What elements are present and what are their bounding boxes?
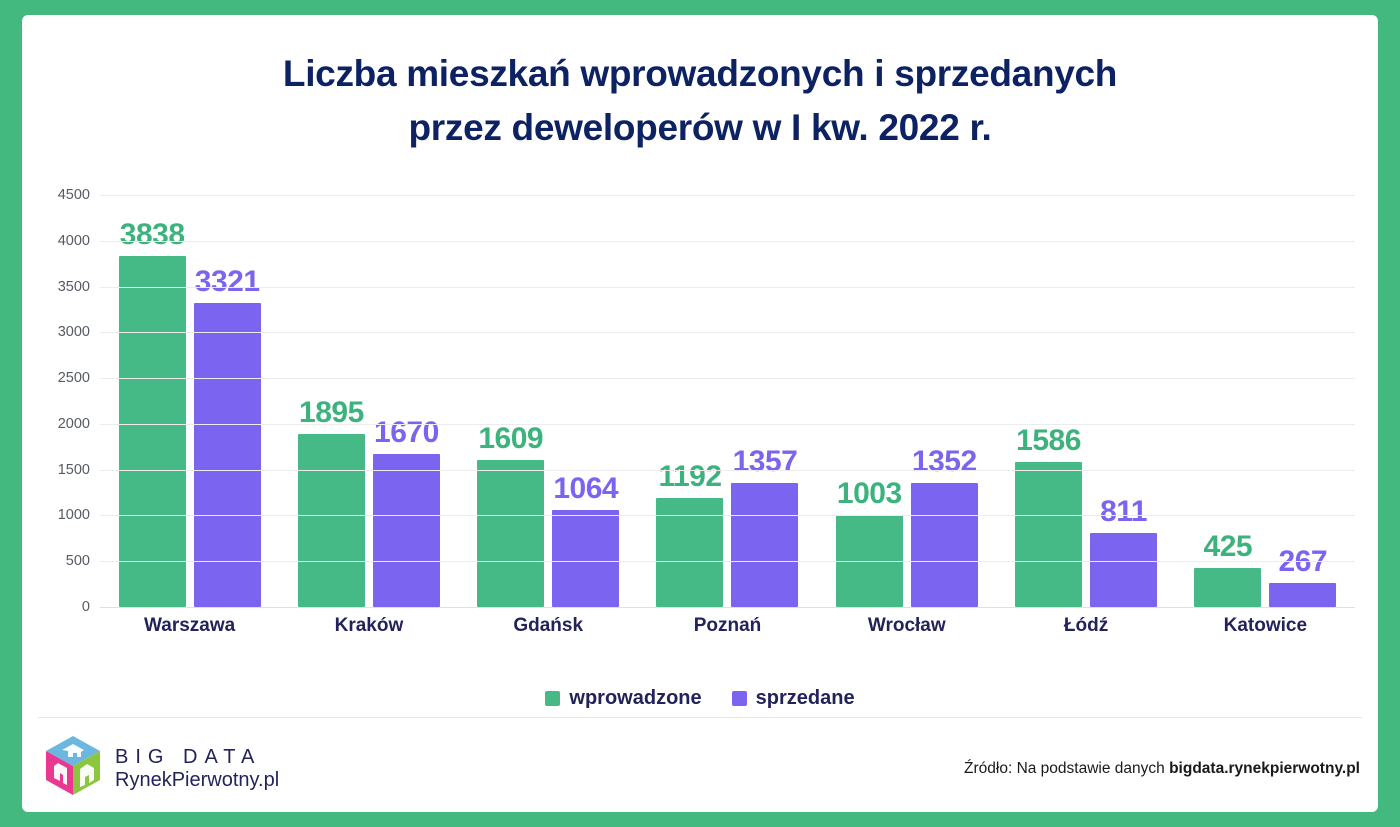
bar[interactable] (552, 510, 619, 607)
x-axis-tick: Gdańsk (459, 615, 638, 637)
bar-group: 425267 (1176, 195, 1355, 607)
gridline (100, 287, 1355, 288)
bar-group: 38383321 (100, 195, 279, 607)
bigdata-cube-icon (44, 735, 102, 802)
bar[interactable] (477, 460, 544, 607)
footer: BIG DATA RynekPierwotny.pl Źródło: Na po… (22, 727, 1378, 812)
y-axis-tick: 0 (82, 599, 90, 615)
chart-card: Liczba mieszkań wprowadzonych i sprzedan… (22, 15, 1378, 812)
gridline (100, 195, 1355, 196)
bar[interactable] (911, 483, 978, 607)
y-axis-tick: 2000 (58, 416, 90, 432)
y-axis-tick: 3500 (58, 279, 90, 295)
legend-label: wprowadzone (569, 687, 701, 710)
bar-value-label: 3321 (195, 265, 260, 299)
y-axis-tick: 3000 (58, 324, 90, 340)
chart-plot-area: 050010001500200025003000350040004500 383… (22, 195, 1378, 655)
bar-value-label: 811 (1100, 495, 1147, 529)
gridline (100, 470, 1355, 471)
brand-name-primary: BIG DATA (115, 746, 261, 768)
gridline (100, 332, 1355, 333)
x-axis-tick: Wrocław (817, 615, 996, 637)
bar-slot: 3838 (119, 195, 186, 607)
bar-slot: 1895 (298, 195, 365, 607)
bar-slot: 1586 (1015, 195, 1082, 607)
bar-slot: 1609 (477, 195, 544, 607)
bar-slot: 3321 (194, 195, 261, 607)
bar-value-label: 1357 (733, 445, 798, 479)
gridline (100, 378, 1355, 379)
bar-group: 1586811 (996, 195, 1175, 607)
bar-value-label: 1670 (374, 416, 439, 450)
x-axis-tick: Kraków (279, 615, 458, 637)
x-axis-tick: Łódź (996, 615, 1175, 637)
y-axis-tick: 500 (66, 553, 90, 569)
title-line-2: przez deweloperów w I kw. 2022 r. (22, 101, 1378, 155)
bar-value-label: 1003 (837, 477, 902, 511)
gridline (100, 607, 1355, 608)
bar-slot: 811 (1090, 195, 1157, 607)
bar-slot: 267 (1269, 195, 1336, 607)
title-line-1: Liczba mieszkań wprowadzonych i sprzedan… (22, 47, 1378, 101)
bar-value-label: 3838 (120, 218, 185, 252)
bar-value-label: 1064 (553, 472, 618, 506)
y-axis-tick: 4000 (58, 233, 90, 249)
bar-groups: 3838332118951670160910641192135710031352… (100, 195, 1355, 607)
bar-group: 16091064 (459, 195, 638, 607)
bar[interactable] (298, 434, 365, 607)
bar[interactable] (1269, 583, 1336, 607)
bar-value-label: 1352 (912, 445, 977, 479)
source-note: Źródło: Na podstawie danych bigdata.ryne… (964, 760, 1360, 778)
bar[interactable] (1194, 568, 1261, 607)
chart-legend: wprowadzonesprzedane (22, 687, 1378, 710)
gridline (100, 515, 1355, 516)
bar[interactable] (656, 498, 723, 607)
bar-group: 10031352 (817, 195, 996, 607)
footer-divider (38, 717, 1362, 718)
y-axis-tick: 1500 (58, 462, 90, 478)
bar-slot: 1192 (656, 195, 723, 607)
bar[interactable] (1090, 533, 1157, 607)
source-domain: bigdata.rynekpierwotny.pl (1169, 760, 1360, 777)
legend-item[interactable]: wprowadzone (545, 687, 701, 710)
bar-value-label: 425 (1204, 530, 1253, 564)
brand-text: BIG DATA RynekPierwotny.pl (115, 746, 279, 791)
bar[interactable] (373, 454, 440, 607)
x-axis-tick: Poznań (638, 615, 817, 637)
bar-slot: 425 (1194, 195, 1261, 607)
bar-value-label: 1586 (1016, 424, 1081, 458)
legend-item[interactable]: sprzedane (732, 687, 855, 710)
bar-group: 11921357 (638, 195, 817, 607)
brand-logo[interactable]: BIG DATA RynekPierwotny.pl (44, 735, 279, 802)
bar[interactable] (1015, 462, 1082, 607)
y-axis-tick: 1000 (58, 507, 90, 523)
bar-slot: 1003 (836, 195, 903, 607)
x-axis-tick: Katowice (1176, 615, 1355, 637)
source-prefix: Źródło: Na podstawie danych (964, 760, 1169, 777)
gridline (100, 561, 1355, 562)
brand-name-secondary: RynekPierwotny.pl (115, 769, 279, 791)
bar-slot: 1670 (373, 195, 440, 607)
bar-slot: 1352 (911, 195, 978, 607)
gridline (100, 241, 1355, 242)
grid-area: 3838332118951670160910641192135710031352… (100, 195, 1355, 607)
bar-value-label: 1192 (658, 460, 721, 494)
bar-group: 18951670 (279, 195, 458, 607)
bar-value-label: 1609 (478, 422, 543, 456)
bar[interactable] (119, 256, 186, 607)
legend-swatch-icon (545, 691, 560, 706)
bar-slot: 1064 (552, 195, 619, 607)
bar-slot: 1357 (731, 195, 798, 607)
bar[interactable] (731, 483, 798, 607)
legend-label: sprzedane (756, 687, 855, 710)
x-axis-tick: Warszawa (100, 615, 279, 637)
gridline (100, 424, 1355, 425)
y-axis: 050010001500200025003000350040004500 (22, 195, 100, 607)
y-axis-tick: 4500 (58, 187, 90, 203)
legend-swatch-icon (732, 691, 747, 706)
x-axis: WarszawaKrakówGdańskPoznańWrocławŁódźKat… (100, 615, 1355, 637)
y-axis-tick: 2500 (58, 370, 90, 386)
page-title: Liczba mieszkań wprowadzonych i sprzedan… (22, 47, 1378, 154)
